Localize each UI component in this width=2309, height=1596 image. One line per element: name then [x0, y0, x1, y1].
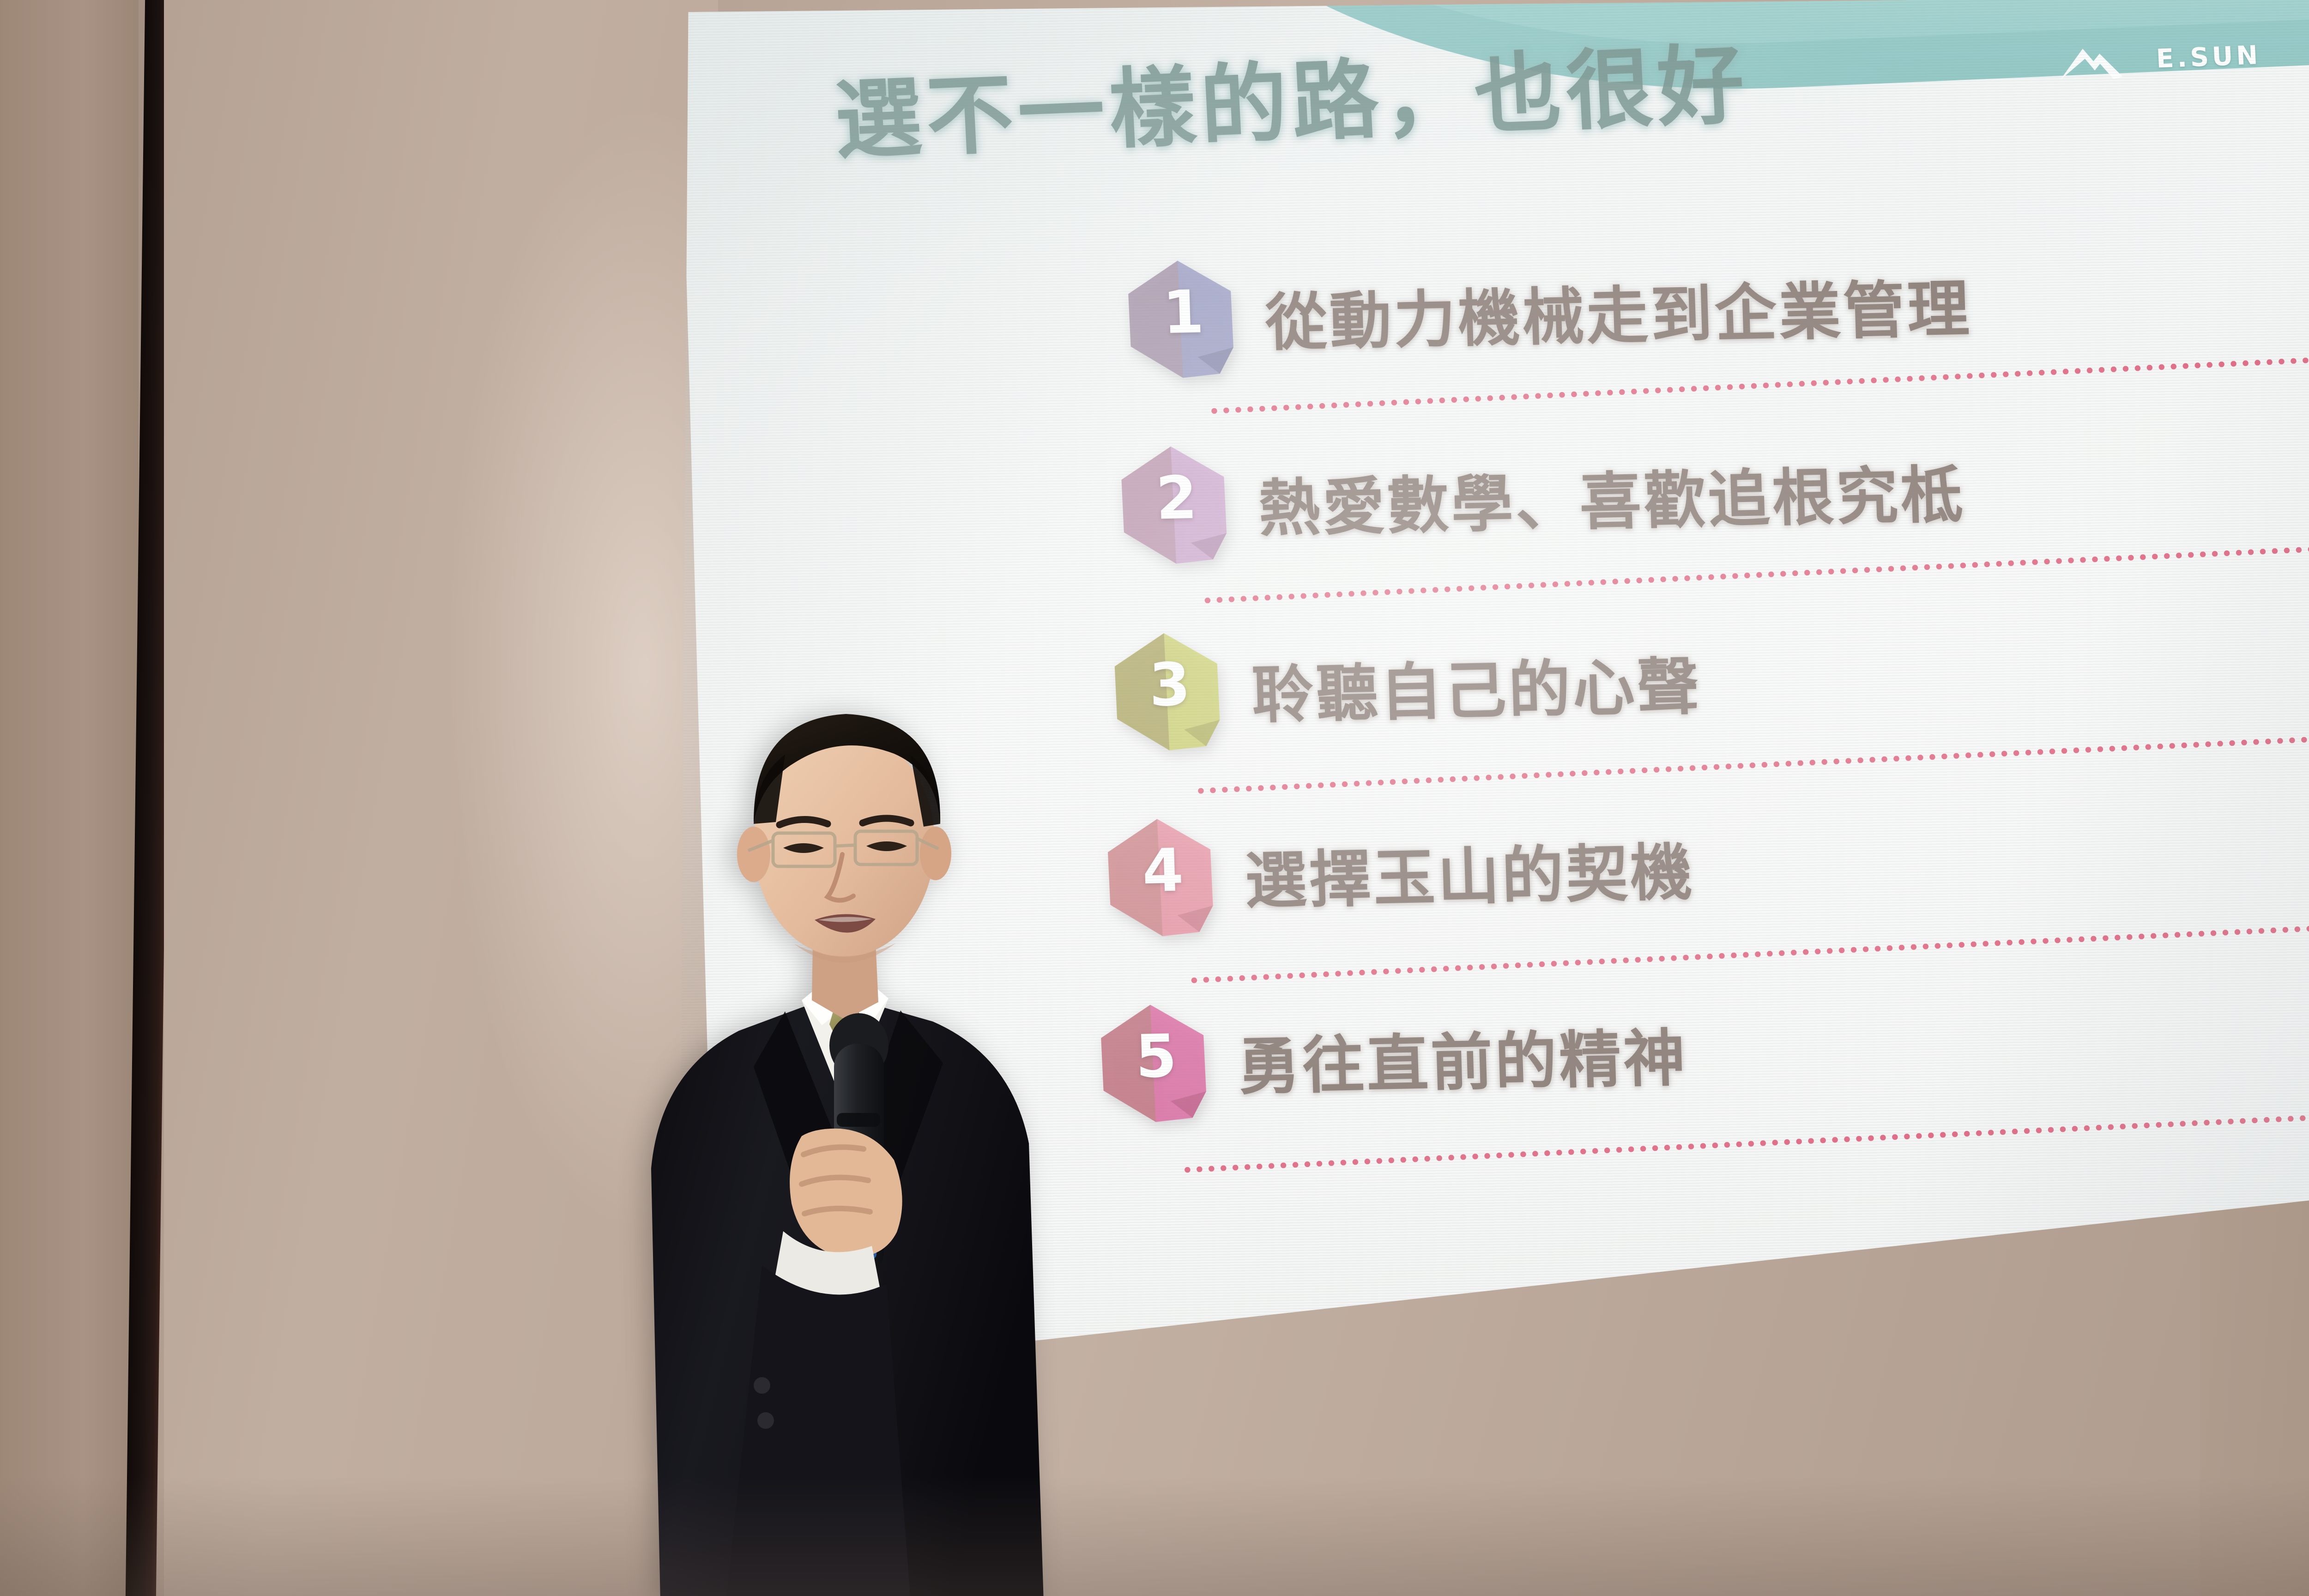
wall-left-panel	[0, 0, 139, 1596]
jacket-button-2	[757, 1412, 774, 1429]
speaker-illustration	[545, 637, 1127, 1596]
slide-item-list: 1 從動力機械走到企業管理	[1125, 223, 2309, 1206]
list-item-label: 勇往直前的精神	[1237, 1008, 1689, 1106]
badge-number: 3	[1111, 617, 1222, 741]
ear-right	[920, 827, 951, 880]
list-item-label: 熱愛數學、喜歡追根究柢	[1257, 444, 1966, 548]
badge-number: 2	[1118, 430, 1228, 554]
slide-title: 選不一樣的路，也很好	[832, 14, 1752, 176]
badge-number: 1	[1124, 245, 1235, 368]
list-item: 2 熱愛數學、喜歡追根究柢	[1130, 415, 2309, 630]
list-item-label: 從動力機械走到企業管理	[1264, 259, 1973, 363]
esun-logo: E.SUN	[2056, 34, 2262, 84]
speaker-figure	[545, 637, 1127, 1596]
screenshot-root: E.SUN 選不一樣的路，也很好	[0, 0, 2309, 1596]
jacket-button-1	[754, 1377, 770, 1394]
microphone-band	[837, 1113, 880, 1127]
esun-logo-text: E.SUN	[2156, 40, 2262, 74]
list-item-label: 選擇玉山的契機	[1244, 822, 1696, 920]
list-item: 5 勇往直前的精神	[1146, 991, 2309, 1206]
mountain-icon	[2056, 38, 2137, 84]
ear-left	[737, 827, 770, 882]
list-item-label: 聆聽自己的心聲	[1251, 636, 1703, 735]
list-item: 1 從動力機械走到企業管理	[1125, 223, 2309, 438]
